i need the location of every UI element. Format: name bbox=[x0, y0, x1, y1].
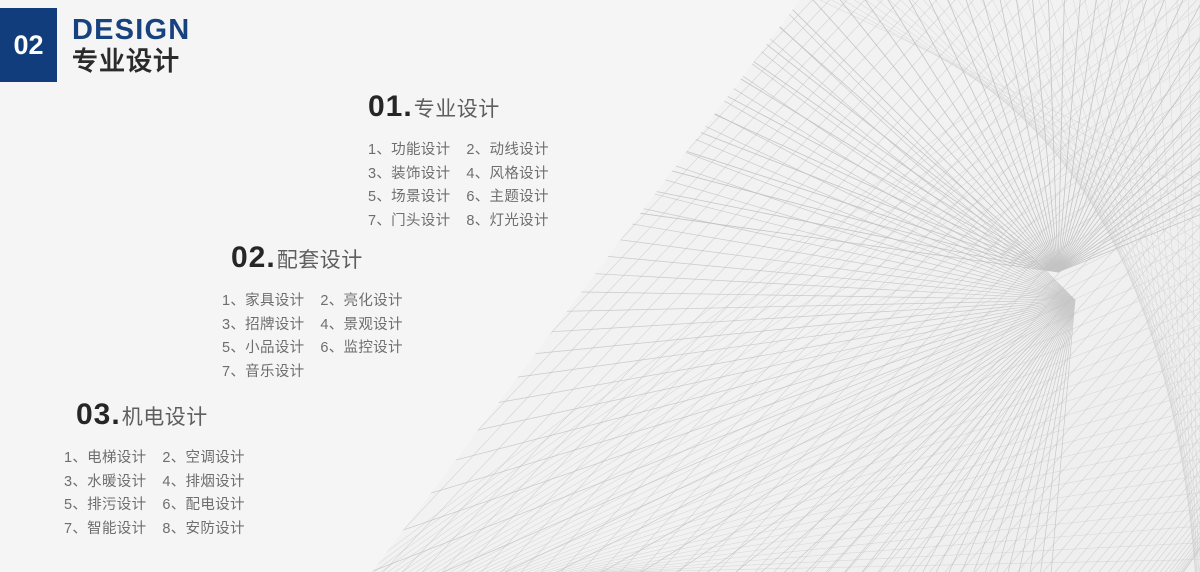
section-01-dot: . bbox=[403, 92, 411, 122]
section-01-number: 01 bbox=[368, 92, 403, 122]
list-item: 1、功能设计 bbox=[368, 139, 450, 163]
header-title-block: DESIGN 专业设计 bbox=[72, 8, 190, 82]
list-item: 7、音乐设计 bbox=[222, 361, 304, 385]
section-02-heading: 02 . 配套设计 bbox=[231, 243, 403, 273]
list-item: 2、亮化设计 bbox=[320, 290, 402, 314]
list-item: 4、景观设计 bbox=[320, 314, 402, 338]
section-number-badge: 02 bbox=[0, 8, 57, 82]
header-title-english: DESIGN bbox=[72, 16, 190, 46]
section-number-text: 02 bbox=[13, 32, 43, 59]
list-item: 8、灯光设计 bbox=[466, 210, 548, 234]
content-section-03: 03 . 机电设计 1、电梯设计 2、空调设计 3、水暖设计 4、排烟设计 5、… bbox=[76, 400, 245, 542]
list-item: 4、风格设计 bbox=[466, 163, 548, 187]
list-item: 6、主题设计 bbox=[466, 186, 548, 210]
list-item: 6、配电设计 bbox=[162, 494, 244, 518]
content-section-01: 01 . 专业设计 1、功能设计 2、动线设计 3、装饰设计 4、风格设计 5、… bbox=[368, 92, 549, 234]
section-03-item-grid: 1、电梯设计 2、空调设计 3、水暖设计 4、排烟设计 5、排污设计 6、配电设… bbox=[64, 447, 245, 542]
list-item: 7、智能设计 bbox=[64, 518, 146, 542]
list-item: 1、家具设计 bbox=[222, 290, 304, 314]
list-item: 8、安防设计 bbox=[162, 518, 244, 542]
list-item: 3、水暖设计 bbox=[64, 471, 146, 495]
section-02-item-grid: 1、家具设计 2、亮化设计 3、招牌设计 4、景观设计 5、小品设计 6、监控设… bbox=[222, 290, 403, 385]
list-item: 1、电梯设计 bbox=[64, 447, 146, 471]
slide-canvas: 02 DESIGN 专业设计 01 . 专业设计 1、功能设计 2、动线设计 3… bbox=[0, 0, 1200, 572]
content-section-02: 02 . 配套设计 1、家具设计 2、亮化设计 3、招牌设计 4、景观设计 5、… bbox=[231, 243, 403, 385]
list-item: 2、空调设计 bbox=[162, 447, 244, 471]
section-02-title: 配套设计 bbox=[277, 250, 363, 271]
section-02-dot: . bbox=[266, 243, 274, 273]
section-03-number: 03 bbox=[76, 400, 111, 430]
list-item bbox=[320, 361, 402, 385]
list-item: 5、场景设计 bbox=[368, 186, 450, 210]
list-item: 6、监控设计 bbox=[320, 337, 402, 361]
header-title-chinese: 专业设计 bbox=[72, 47, 190, 76]
list-item: 4、排烟设计 bbox=[162, 471, 244, 495]
list-item: 2、动线设计 bbox=[466, 139, 548, 163]
section-01-title: 专业设计 bbox=[414, 99, 500, 120]
section-03-dot: . bbox=[111, 400, 119, 430]
list-item: 3、招牌设计 bbox=[222, 314, 304, 338]
list-item: 5、排污设计 bbox=[64, 494, 146, 518]
slide-header: 02 DESIGN 专业设计 bbox=[0, 8, 190, 82]
section-03-heading: 03 . 机电设计 bbox=[76, 400, 245, 430]
list-item: 7、门头设计 bbox=[368, 210, 450, 234]
section-01-item-grid: 1、功能设计 2、动线设计 3、装饰设计 4、风格设计 5、场景设计 6、主题设… bbox=[368, 139, 549, 234]
list-item: 3、装饰设计 bbox=[368, 163, 450, 187]
list-item: 5、小品设计 bbox=[222, 337, 304, 361]
section-01-heading: 01 . 专业设计 bbox=[368, 92, 549, 122]
section-03-title: 机电设计 bbox=[122, 407, 208, 428]
section-02-number: 02 bbox=[231, 243, 266, 273]
